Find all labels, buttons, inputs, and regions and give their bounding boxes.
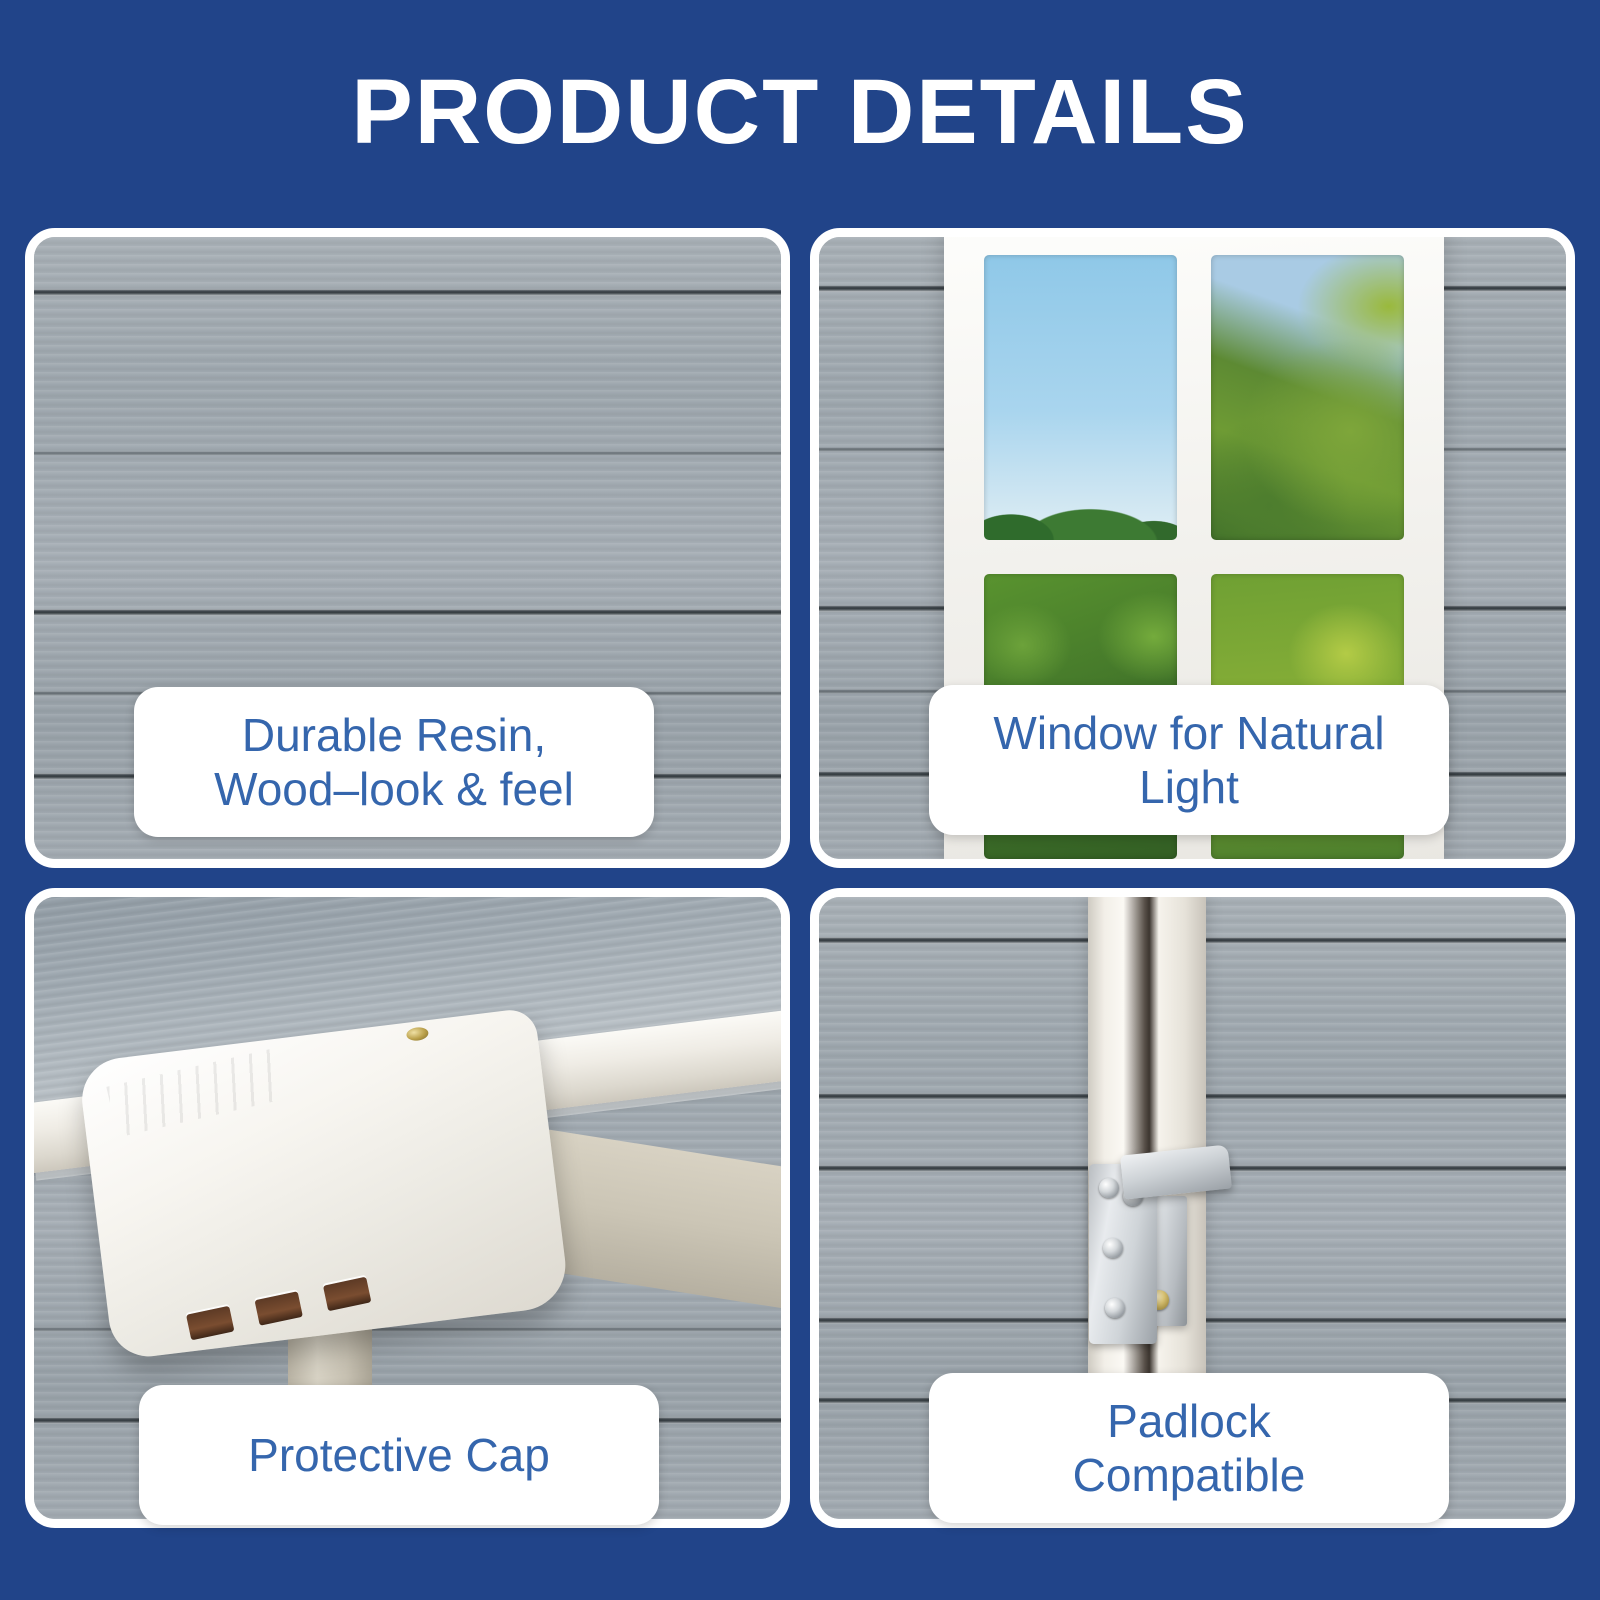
vent-slot xyxy=(323,1277,371,1312)
tile-durable-resin[interactable]: Durable Resin, Wood–look & feel xyxy=(25,228,790,868)
label-protective-cap: Protective Cap xyxy=(139,1385,659,1525)
tile-protective-cap[interactable]: Protective Cap xyxy=(25,888,790,1528)
product-details-infographic: PRODUCT DETAILS Durable Resin, Wood–look… xyxy=(0,0,1600,1600)
distant-treeline xyxy=(984,455,1177,541)
feature-tile-grid: Durable Resin, Wood–look & feel xyxy=(25,228,1575,1528)
rivet xyxy=(1105,1298,1125,1318)
label-durable-resin: Durable Resin, Wood–look & feel xyxy=(134,687,654,837)
window-pane-top-left xyxy=(984,255,1177,540)
protective-cap-part xyxy=(77,1007,570,1361)
siding-seam xyxy=(34,609,781,616)
rivet xyxy=(1103,1238,1123,1258)
screw-head xyxy=(405,1026,428,1042)
cap-ridges xyxy=(106,1048,283,1137)
label-padlock: Padlock Compatible xyxy=(929,1373,1449,1523)
window-pane-top-right xyxy=(1211,255,1404,540)
vent-slot xyxy=(186,1306,234,1341)
page-title: PRODUCT DETAILS xyxy=(0,64,1600,161)
label-window: Window for Natural Light xyxy=(929,685,1449,835)
tile-padlock[interactable]: Padlock Compatible xyxy=(810,888,1575,1528)
siding-seam xyxy=(34,451,781,456)
rivet xyxy=(1099,1178,1119,1198)
vent-slot xyxy=(254,1291,302,1326)
siding-seam xyxy=(34,289,781,296)
tile-window[interactable]: Window for Natural Light xyxy=(810,228,1575,868)
